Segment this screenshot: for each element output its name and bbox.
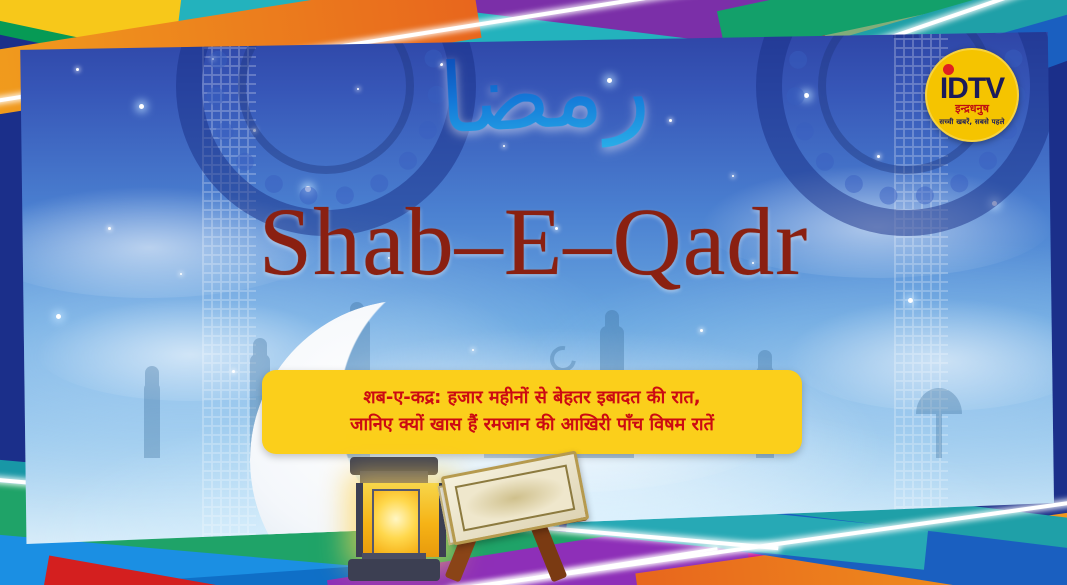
- lantern-icon: [346, 457, 442, 581]
- minaret: [144, 382, 160, 458]
- caption-banner: शब-ए-कद्र: हजार महीनों से बेहतर इबादत की…: [262, 370, 802, 454]
- page-title: Shab–E–Qadr: [0, 186, 1067, 298]
- ramadan-shab-e-qadr-poster: رمضان Shab–E–Qadr शब-ए-कद्र: हजार महीनों…: [0, 0, 1067, 585]
- caption-line-2: जानिए क्यों खास हैं रमजान की आखिरी पाँच …: [278, 411, 786, 438]
- logo-subtitle: इन्द्रधनुष: [925, 103, 1019, 115]
- ramadan-arabic-calligraphy: رمضان: [436, 29, 653, 180]
- idtv-logo[interactable]: IDTV इन्द्रधनुष सच्ची खबरें, सबसे पहले: [925, 48, 1019, 142]
- palm-leaves: [916, 388, 962, 414]
- logo-tagline: सच्ची खबरें, सबसे पहले: [925, 118, 1019, 127]
- caption-line-1: शब-ए-कद्र: हजार महीनों से बेहतर इबादत की…: [278, 384, 786, 411]
- quran-on-rehal-icon: [438, 463, 608, 583]
- ramadan-artwork: [330, 445, 620, 585]
- logo-name: IDTV: [925, 74, 1019, 104]
